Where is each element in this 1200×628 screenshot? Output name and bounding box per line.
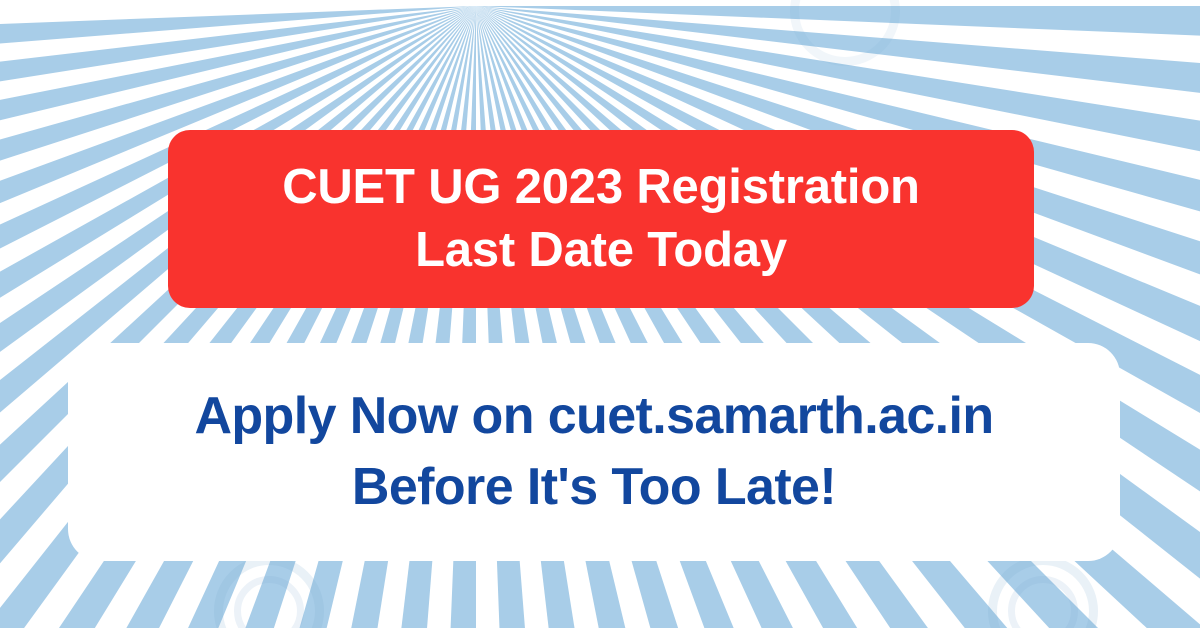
cta-line-1: Apply Now on cuet.samarth.ac.in <box>194 388 993 445</box>
cta-card: Apply Now on cuet.samarth.ac.in Before I… <box>68 343 1120 561</box>
promo-banner: CUET UG 2023 Registration Last Date Toda… <box>0 0 1200 628</box>
headline-banner: CUET UG 2023 Registration Last Date Toda… <box>168 130 1034 308</box>
headline-line-1: CUET UG 2023 Registration <box>282 161 920 214</box>
headline-line-2: Last Date Today <box>415 224 787 277</box>
cta-line-2: Before It's Too Late! <box>352 459 836 516</box>
